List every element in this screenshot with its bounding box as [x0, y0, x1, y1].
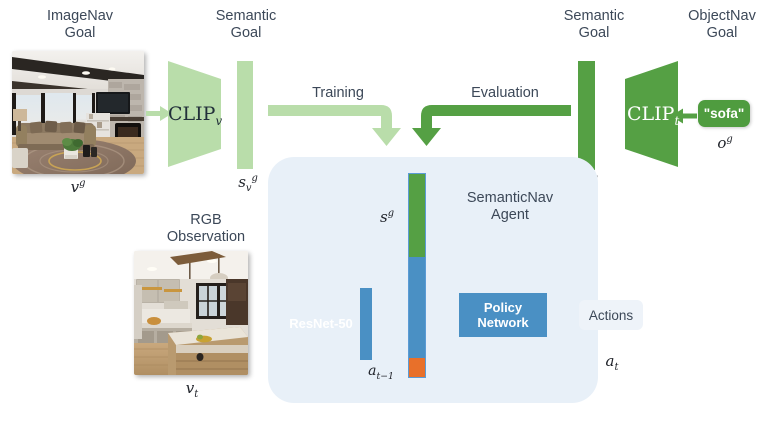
math-base: a: [368, 363, 376, 379]
math-sub: t−1: [377, 371, 394, 382]
resnet-block-label: ResNet-50: [288, 305, 354, 341]
s-v-g-math-label: svg: [228, 173, 268, 194]
policy-network-label: Policy Network: [459, 293, 547, 337]
math-sub: t: [614, 362, 618, 373]
math-sub: t: [194, 389, 198, 400]
rgb-observation-photo: [134, 251, 248, 375]
evaluation-label: Evaluation: [445, 85, 565, 102]
training-arrow: [268, 105, 401, 146]
objectnav-goal-label: ObjectNav Goal: [680, 8, 764, 42]
math-sup: g: [726, 134, 732, 145]
math-sub: v: [246, 183, 252, 194]
clipt-text: CLIP: [627, 103, 674, 125]
evaluation-arrow: [412, 105, 571, 146]
state-vector-semantic-segment: [409, 174, 425, 257]
math-base: s: [380, 208, 388, 226]
actions-box[interactable]: Actions: [579, 300, 643, 330]
semantic-goal-right-bar: [578, 61, 595, 170]
clipv-label: CLIPv: [168, 103, 216, 128]
math-sup: g: [251, 173, 257, 184]
resnet-feature-bar: [360, 288, 372, 360]
sofa-goal-box[interactable]: "sofa": [698, 100, 750, 127]
semantic-goal-left-bar: [237, 61, 253, 169]
figure-canvas: ImageNav Goal: [0, 0, 764, 424]
training-label: Training: [283, 85, 393, 102]
clipt-subscript: t: [674, 114, 679, 128]
clipt-label: CLIPt: [627, 103, 675, 128]
v-t-math-label: vt: [170, 379, 214, 400]
a-t-math-label: at: [592, 352, 632, 373]
math-base: v: [186, 379, 194, 397]
semantic-goal-left-label: Semantic Goal: [200, 8, 292, 42]
math-base: o: [717, 134, 726, 152]
semanticnav-agent-label: SemanticNav Agent: [446, 190, 574, 224]
o-g-math-label: og: [703, 134, 747, 152]
math-sup: g: [388, 208, 394, 219]
a-t-minus-1-math-label: at−1: [356, 363, 406, 382]
semantic-goal-right-label: Semantic Goal: [548, 8, 640, 42]
clipv-text: CLIP: [168, 103, 215, 125]
rgb-observation-label: RGB Observation: [150, 212, 262, 246]
state-vector-action-segment: [409, 358, 425, 377]
state-vector: [408, 173, 426, 378]
math-base: s: [238, 173, 246, 191]
clipv-subscript: v: [215, 114, 222, 128]
s-g-math-label: sg: [370, 208, 404, 226]
